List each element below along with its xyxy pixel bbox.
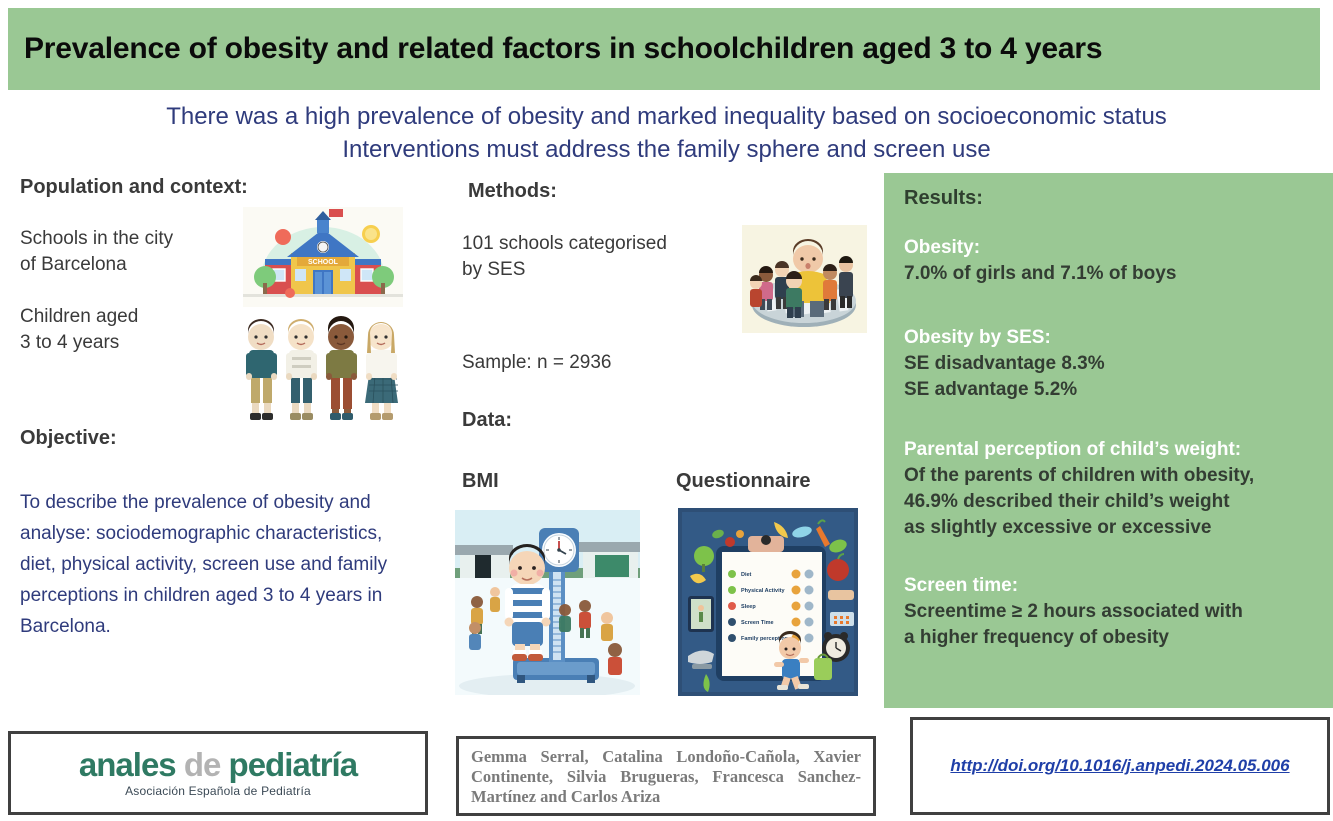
results-heading: Results: bbox=[904, 185, 983, 211]
parental-line-2: 46.9% described their child’s weight bbox=[904, 489, 1254, 515]
journal-logo-wordmark: anales de pediatría bbox=[79, 748, 357, 782]
methods-line-1: 101 schools categorised bbox=[462, 231, 702, 257]
parental-perception-group: Parental perception of child’s weight: O… bbox=[904, 437, 1254, 541]
logo-word-anales: anales bbox=[79, 746, 176, 783]
logo-subtitle: Asociación Española de Pediatría bbox=[125, 784, 311, 798]
ses-title: Obesity by SES: bbox=[904, 325, 1105, 351]
obesity-by-ses-group: Obesity by SES: SE disadvantage 8.3% SE … bbox=[904, 325, 1105, 403]
population-line-4: 3 to 4 years bbox=[20, 330, 173, 356]
sample-size-text: Sample: n = 2936 bbox=[462, 350, 611, 376]
objective-text: To describe the prevalence of obesity an… bbox=[20, 487, 415, 642]
doi-link[interactable]: http://doi.org/10.1016/j.anpedi.2024.05.… bbox=[950, 756, 1289, 776]
screen-time-title: Screen time: bbox=[904, 573, 1243, 599]
results-heading-group: Results: bbox=[904, 185, 983, 211]
authors-list: Gemma Serral, Catalina Londoño-Cañola, X… bbox=[471, 747, 861, 807]
weighing-scale-icon bbox=[455, 510, 640, 695]
children-crowd-icon bbox=[742, 225, 867, 333]
screen-time-group: Screen time: Screentime ≥ 2 hours associ… bbox=[904, 573, 1243, 651]
subtitle-line-1: There was a high prevalence of obesity a… bbox=[0, 100, 1333, 133]
school-building-icon: SCHOOL bbox=[243, 207, 403, 307]
ses-advantage: SE advantage 5.2% bbox=[904, 377, 1105, 403]
obesity-title: Obesity: bbox=[904, 235, 1176, 261]
methods-heading: Methods: bbox=[468, 180, 557, 203]
doi-box: http://doi.org/10.1016/j.anpedi.2024.05.… bbox=[910, 717, 1330, 815]
four-children-icon bbox=[235, 313, 400, 426]
screen-time-line-1: Screentime ≥ 2 hours associated with bbox=[904, 599, 1243, 625]
svg-text:Screen Time: Screen Time bbox=[741, 620, 774, 626]
population-line-3: Children aged bbox=[20, 304, 173, 330]
screen-time-line-2: a higher frequency of obesity bbox=[904, 625, 1243, 651]
svg-text:Physical Activity: Physical Activity bbox=[741, 588, 785, 594]
header-banner: Prevalence of obesity and related factor… bbox=[8, 8, 1320, 90]
subtitle-line-2: Interventions must address the family sp… bbox=[0, 133, 1333, 166]
parental-line-1: Of the parents of children with obesity, bbox=[904, 463, 1254, 489]
obesity-group: Obesity: 7.0% of girls and 7.1% of boys bbox=[904, 235, 1176, 287]
clipboard-questionnaire-icon: Diet Physical Activity Sleep Screen Time… bbox=[678, 508, 858, 696]
journal-logo-box: anales de pediatría Asociación Española … bbox=[8, 731, 428, 815]
subtitle-block: There was a high prevalence of obesity a… bbox=[0, 100, 1333, 166]
school-sign-label: SCHOOL bbox=[308, 259, 339, 266]
logo-word-de: de bbox=[184, 746, 221, 783]
bmi-label: BMI bbox=[462, 470, 499, 493]
authors-box: Gemma Serral, Catalina Londoño-Cañola, X… bbox=[456, 736, 876, 816]
parental-title: Parental perception of child’s weight: bbox=[904, 437, 1254, 463]
page-title: Prevalence of obesity and related factor… bbox=[8, 32, 1102, 66]
population-line-2: of Barcelona bbox=[20, 252, 173, 278]
parental-line-3: as slightly excessive or excessive bbox=[904, 515, 1254, 541]
population-context-heading: Population and context: bbox=[20, 176, 248, 199]
data-heading: Data: bbox=[462, 409, 512, 432]
results-panel: Results: Obesity: 7.0% of girls and 7.1%… bbox=[884, 173, 1333, 708]
svg-text:Diet: Diet bbox=[741, 572, 752, 578]
questionnaire-label: Questionnaire bbox=[676, 470, 810, 493]
objective-heading: Objective: bbox=[20, 427, 117, 450]
methods-schools-text: 101 schools categorised by SES bbox=[462, 231, 702, 283]
logo-word-pediatria: pediatría bbox=[229, 746, 358, 783]
obesity-body: 7.0% of girls and 7.1% of boys bbox=[904, 261, 1176, 287]
methods-line-2: by SES bbox=[462, 257, 702, 283]
svg-text:Sleep: Sleep bbox=[741, 604, 756, 610]
ses-disadvantage: SE disadvantage 8.3% bbox=[904, 351, 1105, 377]
population-context-text: Schools in the city of Barcelona Childre… bbox=[20, 226, 173, 356]
population-line-1: Schools in the city bbox=[20, 226, 173, 252]
